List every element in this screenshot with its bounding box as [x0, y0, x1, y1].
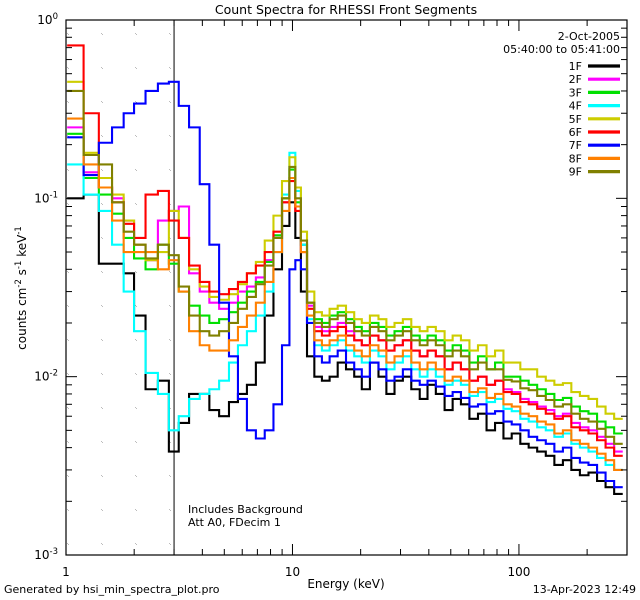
annotation-attenuator-state: Att A0, FDecim 1	[188, 516, 281, 529]
legend-label-7f: 7F	[569, 139, 582, 152]
x-axis-label: Energy (keV)	[307, 577, 384, 591]
legend-label-6f: 6F	[569, 126, 582, 139]
legend-label-5f: 5F	[569, 113, 582, 126]
y-axis-label-part3: keV	[15, 234, 29, 261]
page-title: Count Spectra for RHESSI Front Segments	[215, 2, 477, 17]
legend-label-9f: 9F	[569, 166, 582, 179]
y-axis-label-exp2: -1	[14, 261, 24, 269]
observation-date: 2-Oct-2005	[558, 30, 620, 43]
y-tick-exponent: -2	[50, 369, 58, 379]
y-tick-exponent: 0	[53, 12, 58, 22]
y-tick-mantissa: 10	[34, 370, 49, 384]
observation-time-range: 05:40:00 to 05:41:00	[503, 43, 620, 56]
y-axis-label-part2: s	[15, 269, 29, 279]
figure-canvas: Count Spectra for RHESSI Front Segments …	[0, 0, 640, 600]
x-tick-label: 1	[62, 565, 70, 579]
x-tick-label: 10	[285, 565, 300, 579]
legend-label-2f: 2F	[569, 73, 582, 86]
footer-generator: Generated by hsi_min_spectra_plot.pro	[4, 583, 220, 596]
y-axis-label-exp3: -1	[14, 226, 24, 234]
x-tick-label: 100	[507, 565, 530, 579]
legend-label-1f: 1F	[569, 60, 582, 73]
y-tick-mantissa: 10	[34, 191, 49, 205]
annotation-includes-background: Includes Background	[188, 503, 303, 516]
hatched-exclusion-band	[66, 20, 174, 555]
y-axis-label-part1: counts cm	[15, 288, 29, 350]
y-tick-mantissa: 10	[37, 13, 52, 27]
svg-text:counts cm-2 s-1 keV-1: counts cm-2 s-1 keV-1	[14, 226, 29, 350]
y-tick-exponent: -3	[50, 547, 58, 557]
y-tick-exponent: -1	[50, 190, 58, 200]
legend-label-3f: 3F	[569, 86, 582, 99]
y-axis-label-exp1: -2	[14, 279, 24, 287]
y-tick-mantissa: 10	[34, 548, 49, 562]
spectra-plot-figure: Count Spectra for RHESSI Front Segments …	[0, 0, 640, 600]
legend-label-8f: 8F	[569, 152, 582, 165]
legend-label-4f: 4F	[569, 100, 582, 113]
footer-timestamp: 13-Apr-2023 12:49	[533, 583, 636, 596]
y-axis-label: counts cm-2 s-1 keV-1	[14, 226, 29, 350]
